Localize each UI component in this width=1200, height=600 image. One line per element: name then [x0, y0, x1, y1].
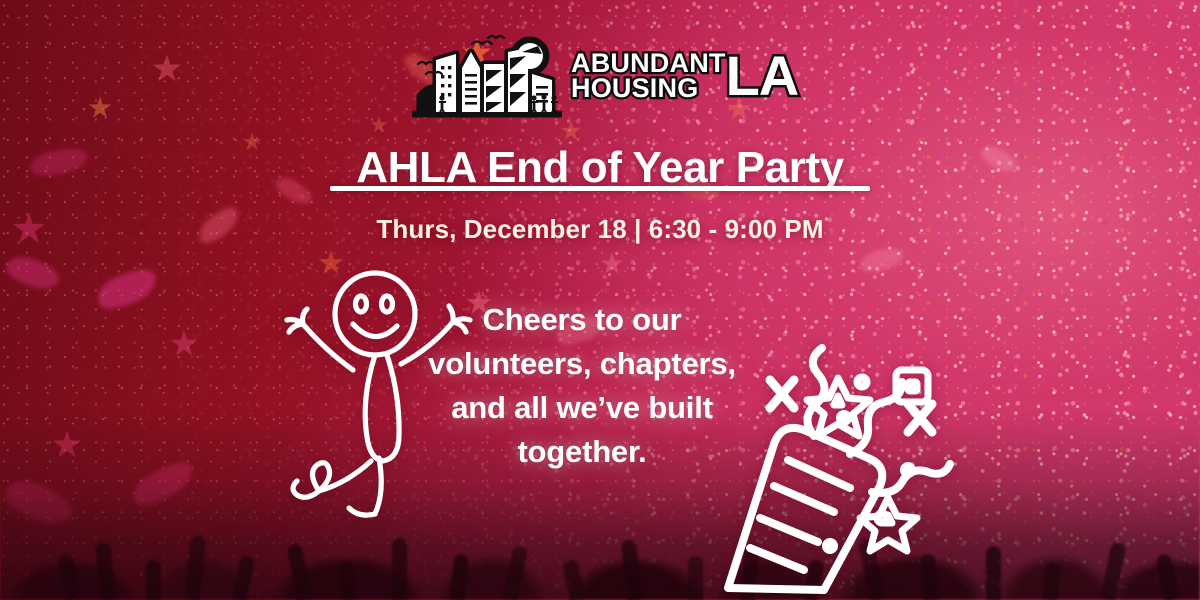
event-banner: ABUNDANT HOUSING LA AHLA End of Year Par…	[0, 0, 1200, 600]
logo-line-housing: HOUSING	[571, 76, 726, 101]
logo-wordmark: ABUNDANT HOUSING LA	[571, 51, 798, 101]
event-date-time: Thurs, December 18 | 6:30 - 9:00 PM	[0, 214, 1200, 245]
logo-la-mark: LA	[726, 52, 799, 100]
jumping-stick-figure-icon	[283, 266, 488, 521]
abundant-housing-la-logo[interactable]: ABUNDANT HOUSING LA	[412, 34, 798, 118]
party-popper-icon	[722, 358, 952, 596]
title-underline	[330, 186, 870, 191]
skyline-icon	[412, 34, 562, 118]
